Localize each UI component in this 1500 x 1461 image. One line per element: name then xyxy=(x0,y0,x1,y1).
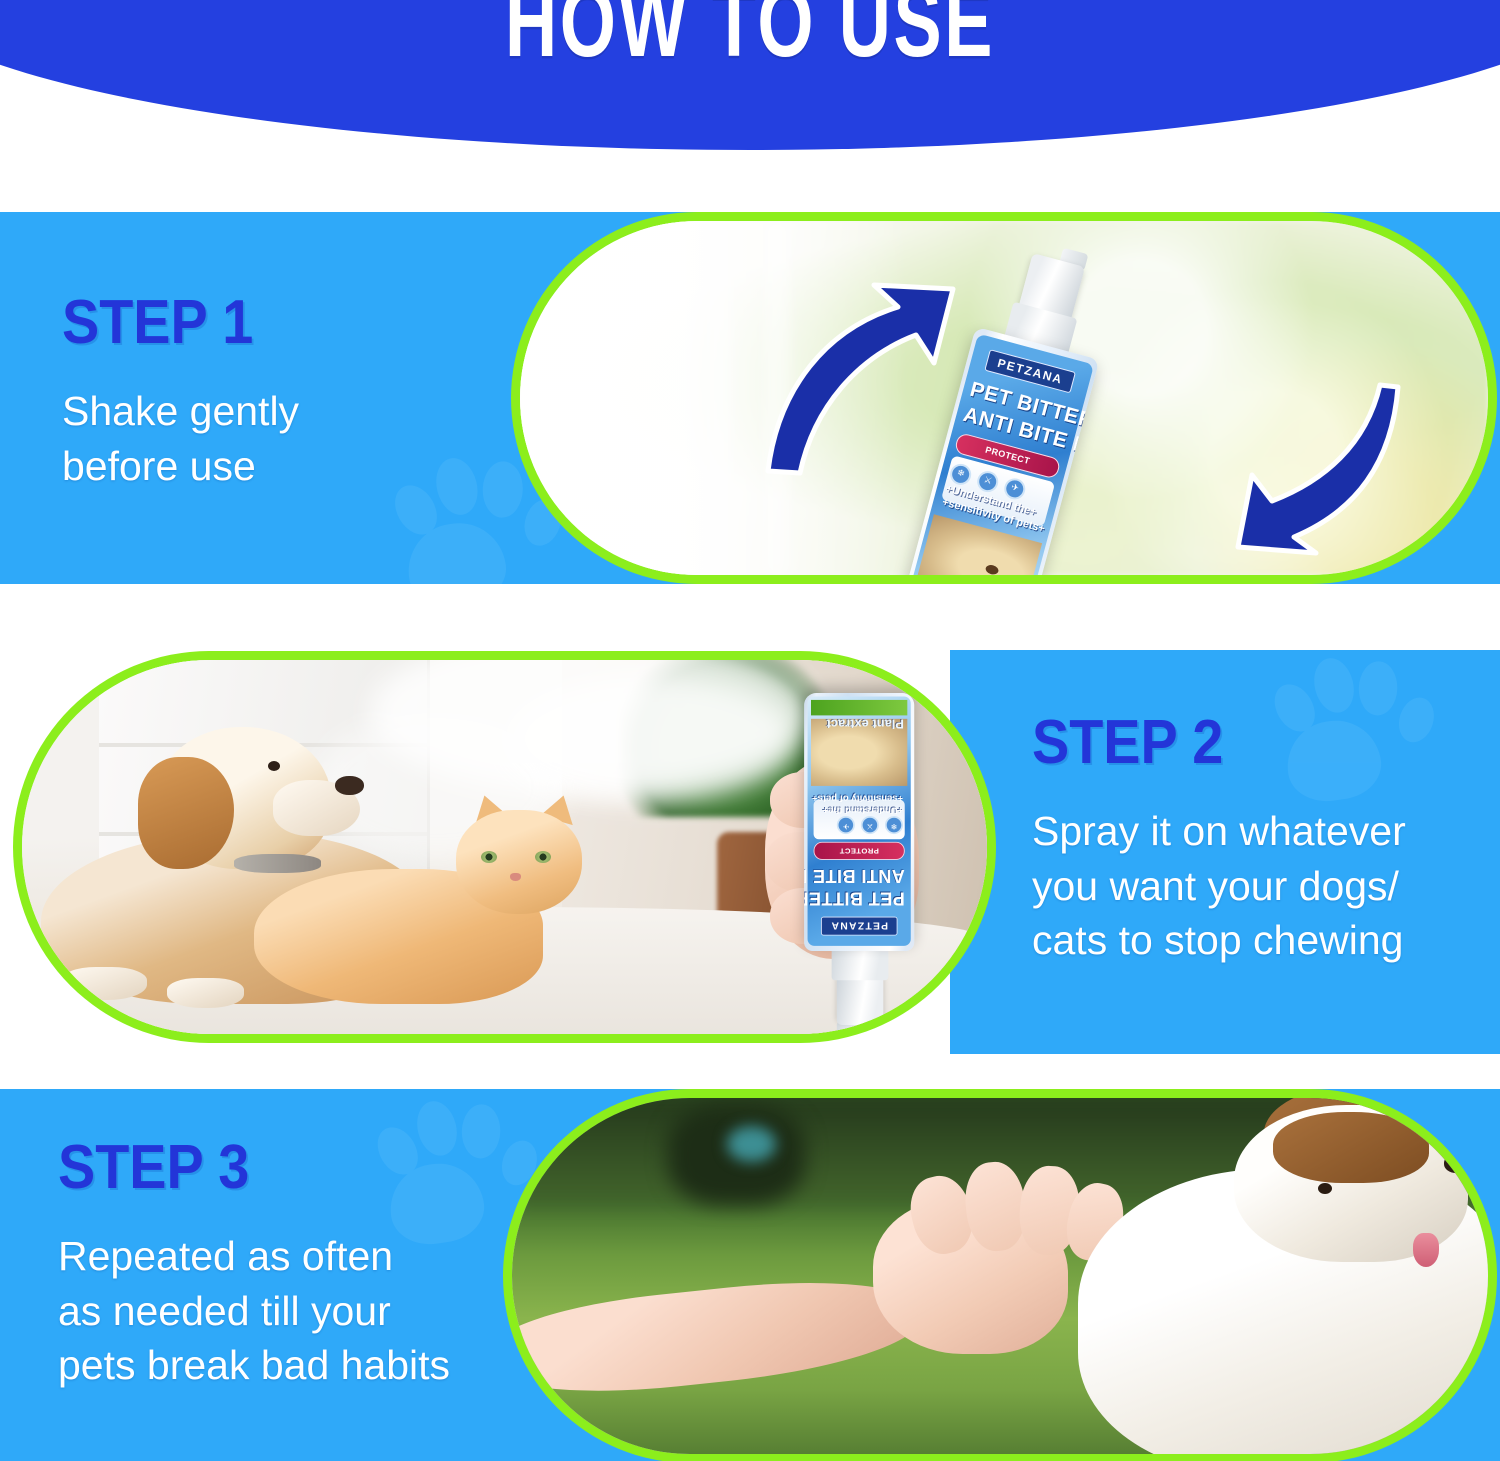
bottle-claim-line-2: +sensitivity of pets+ xyxy=(812,792,903,802)
step-2-body: Spray it on whatever you want your dogs/… xyxy=(1032,804,1492,968)
product-bottle: PETZANA PET BITTER TASTE ANTI BITE INDUC… xyxy=(794,681,914,1025)
arrow-down-icon xyxy=(1220,371,1410,556)
step-2-label: STEP 2 xyxy=(1032,712,1446,774)
step-1-body-line-1: Shake gently xyxy=(62,384,492,439)
step-1-label: STEP 1 xyxy=(62,292,449,354)
bottle-footer-line-1: Plant extract xyxy=(827,716,904,731)
orange-cat-eye xyxy=(535,851,551,863)
bottle-label: PETZANA PET BITTER TASTE ANTI BITE INDUC… xyxy=(808,696,911,945)
step-3-body: Repeated as often as needed till your pe… xyxy=(58,1229,528,1393)
orange-cat-head xyxy=(456,810,581,915)
window-blind-bar xyxy=(706,221,732,575)
step-1-text-block: STEP 1 Shake gently before use xyxy=(62,292,492,493)
step-1-image: PETZANA PET BITTER TASTE ANTI BITE INDUC… xyxy=(520,221,1488,575)
step-panel-2: STEP 2 Spray it on whatever you want you… xyxy=(0,650,1500,1054)
orange-cat-eye xyxy=(481,851,497,863)
step-3-body-line-3: pets break bad habits xyxy=(58,1338,528,1393)
bottle-body: PETZANA PET BITTER TASTE ANTI BITE INDUC… xyxy=(804,693,914,951)
beagle-dog-collar xyxy=(234,854,321,873)
beagle-dog-paw xyxy=(167,978,244,1008)
beagle-dog-eye xyxy=(268,761,280,771)
step-2-image: PETZANA PET BITTER TASTE ANTI BITE INDUC… xyxy=(22,660,987,1034)
step-1-body-line-2: before use xyxy=(62,439,492,494)
step-panel-1: STEP 1 Shake gently before use xyxy=(0,212,1500,584)
bottle-green-strip xyxy=(811,699,907,714)
bottle-title-line-1: PET BITTER TASTE xyxy=(814,887,905,908)
beagle-dog-paw xyxy=(61,967,148,1001)
drop-badge-icon: ✈ xyxy=(837,816,855,834)
step-3-text-block: STEP 3 Repeated as often as needed till … xyxy=(58,1137,528,1393)
step-2-text-block: STEP 2 Spray it on whatever you want you… xyxy=(1032,712,1492,968)
step-3-body-line-2: as needed till your xyxy=(58,1284,528,1339)
paw-badge-icon: ❄ xyxy=(885,816,903,834)
step-3-body-line-1: Repeated as often xyxy=(58,1229,528,1284)
step-2-body-line-1: Spray it on whatever xyxy=(1032,804,1492,859)
step-panel-3: STEP 3 Repeated as often as needed till … xyxy=(0,1089,1500,1461)
arrow-up-icon xyxy=(748,271,968,481)
window-blind-bar xyxy=(648,221,674,575)
beagle-dog-nose xyxy=(335,776,364,795)
bottle-title-line-2: ANTI BITE INDUCER xyxy=(814,865,905,886)
step-1-body: Shake gently before use xyxy=(62,384,492,493)
step-3-image xyxy=(512,1098,1488,1454)
step-3-label: STEP 3 xyxy=(58,1137,481,1199)
bottle-banner: PROTECT YOURPOSSESSIONS xyxy=(814,841,905,859)
bottle-feature-icons: ❄ ⚔ ✈ xyxy=(837,816,903,834)
window-blind-bar xyxy=(590,221,616,575)
collie-dog-head-marking xyxy=(1273,1112,1429,1183)
bottle-claim-line-1: +Understand the+ xyxy=(823,804,903,814)
bottle-cap xyxy=(837,975,883,1025)
step-2-body-line-3: cats to stop chewing xyxy=(1032,913,1492,968)
page-title: HOW TO USE xyxy=(2,0,1498,72)
room-scene: PETZANA PET BITTER TASTE ANTI BITE INDUC… xyxy=(22,660,987,1034)
background-accent xyxy=(727,1126,776,1162)
step-2-body-line-2: you want your dogs/ xyxy=(1032,859,1492,914)
header-banner: HOW TO USE xyxy=(0,0,1500,150)
bottle-brand: PETZANA xyxy=(821,916,898,935)
shield-badge-icon: ⚔ xyxy=(861,816,879,834)
